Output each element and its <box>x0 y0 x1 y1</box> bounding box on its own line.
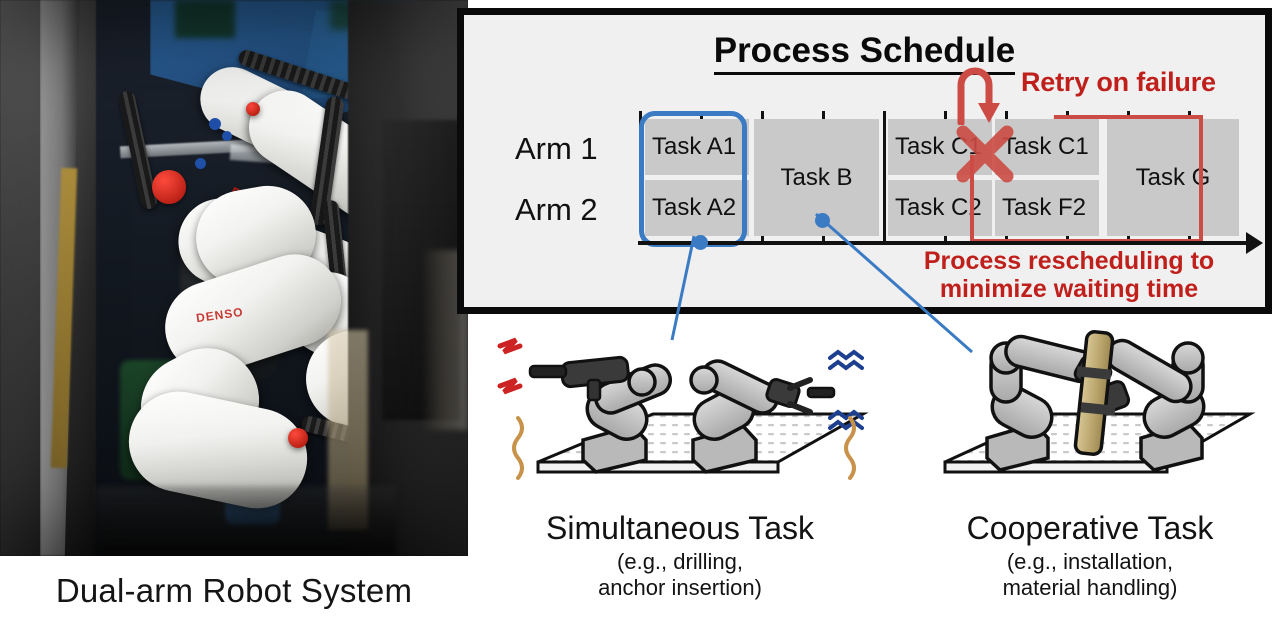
photo-vignette <box>0 0 468 556</box>
simultaneous-subtitle-line-1: (e.g., drilling, <box>470 549 890 575</box>
photo-caption: Dual-arm Robot System <box>0 558 468 624</box>
time-axis <box>638 241 1250 245</box>
simultaneous-task-title: Simultaneous Task <box>470 512 890 545</box>
callout-anchor-simultaneous <box>693 235 708 250</box>
reschedule-annotation: Process rescheduling to minimize waiting… <box>873 247 1265 303</box>
cooperative-task-title: Cooperative Task <box>900 512 1280 545</box>
callout-anchor-cooperative <box>815 213 830 228</box>
reschedule-line-2: minimize waiting time <box>873 275 1265 303</box>
simultaneous-task-subtitle: (e.g., drilling, anchor insertion) <box>470 549 890 601</box>
simultaneous-task-selection-box[interactable] <box>639 111 747 247</box>
figure-root: DENSO DENSO Dual-arm Robot System Proces… <box>0 0 1280 630</box>
retry-annotation: Retry on failure <box>1021 67 1216 98</box>
cooperative-task-subtitle: (e.g., installation, material handling) <box>900 549 1280 601</box>
reschedule-line-1: Process rescheduling to <box>873 247 1265 275</box>
gantt-chart: Task A1 Task A2 Task B Task C1 Task C1 T… <box>464 15 1265 307</box>
simultaneous-task-illustration <box>478 322 888 512</box>
failure-x-icon <box>954 123 1016 185</box>
simultaneous-subtitle-line-2: anchor insertion) <box>470 575 890 601</box>
cooperative-subtitle-line-1: (e.g., installation, <box>900 549 1280 575</box>
drill-vibration-marks <box>500 340 520 392</box>
cooperative-subtitle-line-2: material handling) <box>900 575 1280 601</box>
dual-arm-robot-photo: DENSO DENSO <box>0 0 468 556</box>
gridline <box>883 111 886 243</box>
simultaneous-task-caption: Simultaneous Task (e.g., drilling, ancho… <box>470 512 890 601</box>
retry-loop-arrow-icon <box>951 63 1011 125</box>
process-schedule-panel: Process Schedule Arm 1 Arm 2 <box>457 8 1272 314</box>
cooperative-task-illustration <box>905 322 1277 512</box>
cooperative-task-caption: Cooperative Task (e.g., installation, ma… <box>900 512 1280 601</box>
